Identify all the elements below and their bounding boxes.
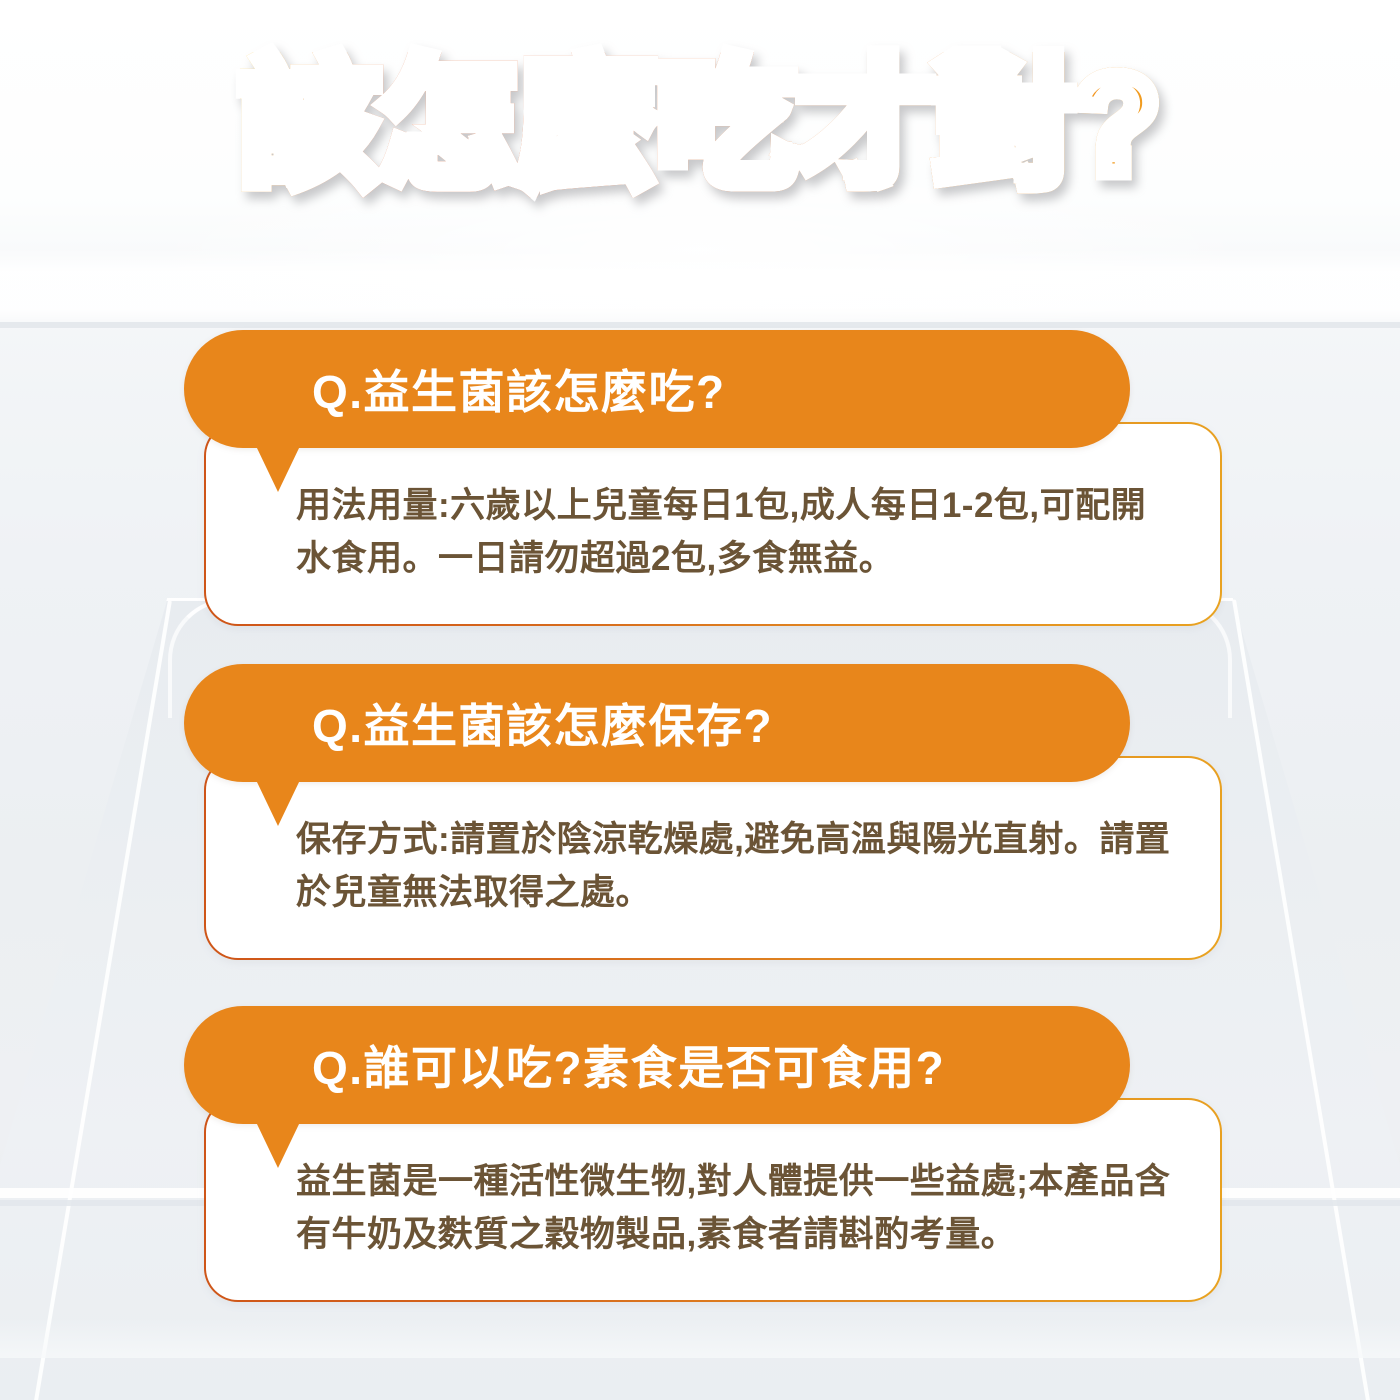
answer-card-3: 益生菌是一種活性微生物,對人體提供一些益處;本產品含有牛奶及麩質之穀物製品,素食… bbox=[204, 1098, 1222, 1302]
question-bubble-2[interactable]: Q.益生菌該怎麼保存? bbox=[184, 664, 1130, 782]
background-band-top bbox=[0, 248, 1400, 332]
question-text-1: Q.益生菌該怎麼吃? bbox=[312, 330, 726, 448]
question-bubble-1[interactable]: Q.益生菌該怎麼吃? bbox=[184, 330, 1130, 448]
background-band-bottom bbox=[0, 1318, 1400, 1358]
bubble-tail-icon bbox=[256, 780, 300, 826]
answer-text-1: 用法用量:六歲以上兒童每日1包,成人每日1-2包,可配開水食用。一日請勿超過2包… bbox=[296, 480, 1181, 585]
answer-card-1: 用法用量:六歲以上兒童每日1包,成人每日1-2包,可配開水食用。一日請勿超過2包… bbox=[204, 422, 1222, 626]
background-band-top-edge bbox=[0, 322, 1400, 328]
background-platform-left-line bbox=[33, 600, 172, 1400]
bubble-tail-icon bbox=[256, 446, 300, 492]
answer-text-2: 保存方式:請置於陰涼乾燥處,避免高溫與陽光直射。請置於兒童無法取得之處。 bbox=[296, 814, 1181, 919]
page-title-text: 該怎麼吃才對? bbox=[240, 52, 1159, 198]
faq-poster: 該怎麼吃才對? 用法用量:六歲以上兒童每日1包,成人每日1-2包,可配開水食用。… bbox=[0, 0, 1400, 1400]
question-text-3: Q.誰可以吃?素食是否可食用? bbox=[312, 1006, 945, 1124]
bubble-tail-icon bbox=[256, 1122, 300, 1168]
answer-text-3: 益生菌是一種活性微生物,對人體提供一些益處;本產品含有牛奶及麩質之穀物製品,素食… bbox=[296, 1156, 1181, 1261]
question-bubble-3[interactable]: Q.誰可以吃?素食是否可食用? bbox=[184, 1006, 1130, 1124]
background-platform-right-line bbox=[1232, 599, 1371, 1400]
question-text-2: Q.益生菌該怎麼保存? bbox=[312, 664, 773, 782]
answer-card-2: 保存方式:請置於陰涼乾燥處,避免高溫與陽光直射。請置於兒童無法取得之處。 bbox=[204, 756, 1222, 960]
page-title: 該怎麼吃才對? bbox=[0, 52, 1400, 198]
